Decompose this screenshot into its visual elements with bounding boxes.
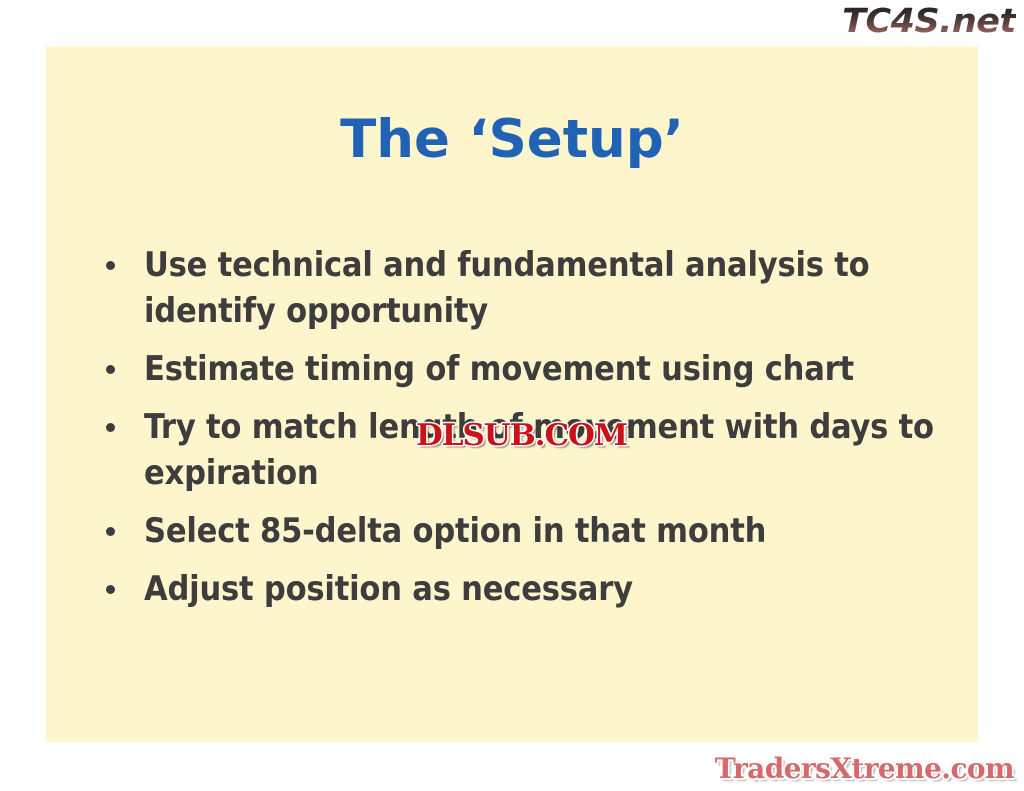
list-item: Estimate timing of movement using chart xyxy=(96,346,952,392)
bullet-dot-icon xyxy=(106,261,115,270)
slide-content-panel: The ‘Setup’ Use technical and fundamenta… xyxy=(46,46,978,742)
footer-logo-tradersxtreme: TradersXtreme.com xyxy=(715,753,1014,785)
list-item-label: Adjust position as necessary xyxy=(144,566,952,612)
bullet-dot-icon xyxy=(106,365,115,374)
page-title: The ‘Setup’ xyxy=(46,110,978,170)
list-item: Select 85-delta option in that month xyxy=(96,508,952,554)
brand-logo-tc4s: TC4S.net xyxy=(843,2,1016,40)
bullet-dot-icon xyxy=(106,423,115,432)
watermark-dlsub: DLSUB.COM xyxy=(416,420,627,452)
list-item: Adjust position as necessary xyxy=(96,566,952,612)
list-item: Use technical and fundamental analysis t… xyxy=(96,242,952,334)
list-item-label: Estimate timing of movement using chart xyxy=(144,346,952,392)
list-item-label: Select 85-delta option in that month xyxy=(144,508,952,554)
slide-stage: TC4S.net The ‘Setup’ Use technical and f… xyxy=(0,0,1024,791)
list-item-label: Use technical and fundamental analysis t… xyxy=(144,242,952,334)
bullet-dot-icon xyxy=(106,585,115,594)
bullet-dot-icon xyxy=(106,527,115,536)
